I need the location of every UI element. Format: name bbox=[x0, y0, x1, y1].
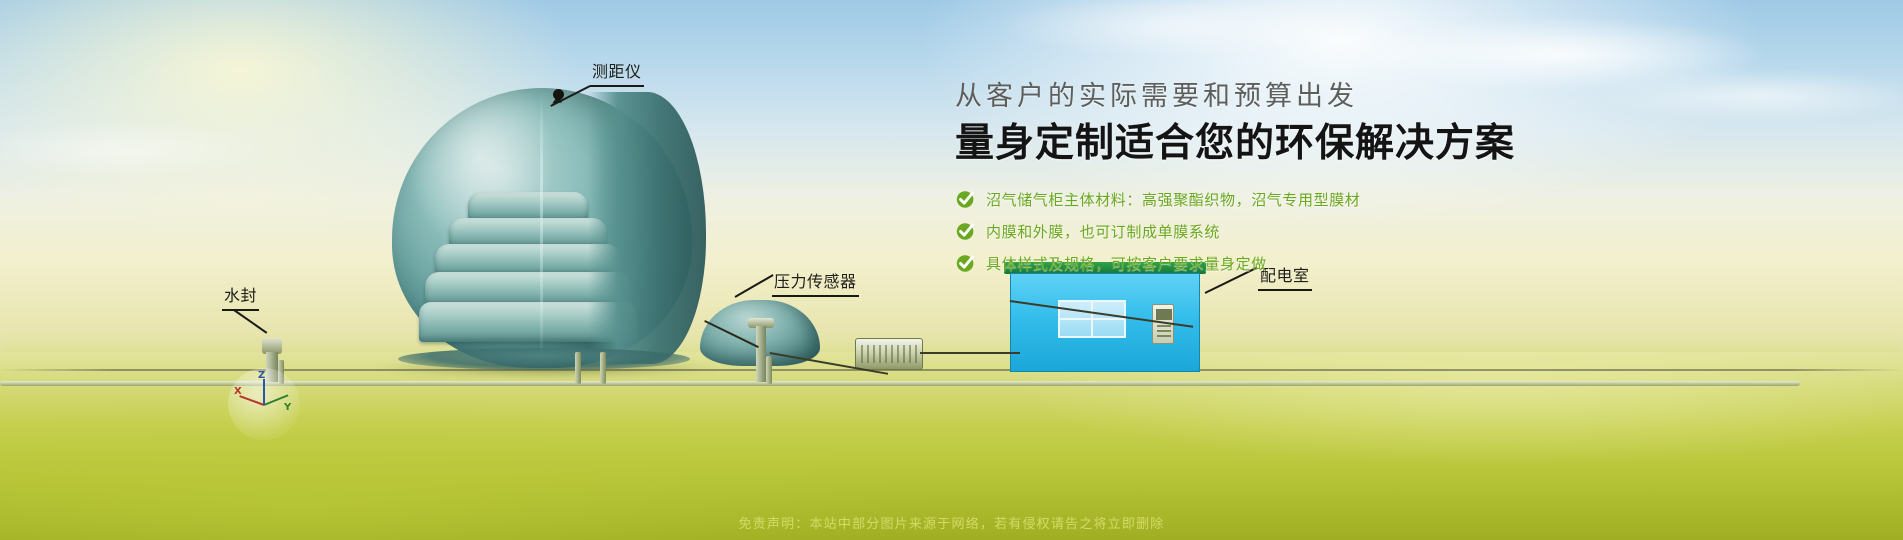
building-window bbox=[1058, 300, 1126, 338]
clouds-decoration bbox=[0, 0, 1903, 240]
dome-outer-shell-right bbox=[588, 92, 706, 364]
axis-orientation-gizmo: Y X Z bbox=[228, 368, 300, 440]
promo-bullet-text: 沼气储气柜主体材料：高强聚酯织物，沼气专用型膜材 bbox=[986, 189, 1360, 210]
dome-seam bbox=[540, 92, 543, 362]
check-circle-icon bbox=[955, 252, 977, 274]
dome-base-ring bbox=[398, 348, 690, 370]
gizmo-axis-x bbox=[239, 395, 264, 406]
gizmo-label-x: X bbox=[234, 386, 242, 397]
check-circle-icon bbox=[955, 188, 977, 210]
promo-bullet-list: 沼气储气柜主体材料：高强聚酯织物，沼气专用型膜材 内膜和外膜，也可订制成单膜系统 bbox=[955, 183, 1515, 279]
pipe-riser-dome-left bbox=[575, 352, 581, 384]
callout-rangefinder: 测距仪 bbox=[590, 58, 644, 87]
promo-subtitle: 从客户的实际需要和预算出发 bbox=[955, 80, 1515, 114]
cable-blower-to-house bbox=[920, 352, 1020, 354]
banner-stage: Y X Z 测距仪 水封 压力传感器 配电室 从客户的实际需要和预算出发 量身定… bbox=[0, 0, 1903, 540]
pressure-sensor-valve-stack bbox=[748, 318, 774, 382]
promo-bullet-item: 内膜和外膜，也可订制成单膜系统 bbox=[955, 215, 1515, 247]
promo-bullet-text: 具体样式及规格，可按客户要求量身定做 bbox=[986, 253, 1267, 274]
gizmo-axis-z bbox=[263, 379, 265, 405]
callout-water-seal-label: 水封 bbox=[222, 282, 259, 311]
gizmo-label-z: Z bbox=[258, 370, 265, 381]
callout-pressure-sensor: 压力传感器 bbox=[772, 268, 859, 297]
pipe-riser-dome-right bbox=[600, 352, 606, 384]
blower-unit bbox=[855, 338, 923, 370]
promo-headline: 量身定制适合您的环保解决方案 bbox=[955, 120, 1515, 168]
promo-bullet-text: 内膜和外膜，也可订制成单膜系统 bbox=[986, 221, 1220, 242]
callout-rangefinder-label: 测距仪 bbox=[590, 58, 644, 87]
gizmo-label-y: Y bbox=[284, 402, 291, 413]
check-circle-icon bbox=[955, 220, 977, 242]
horizon-line bbox=[0, 369, 1903, 371]
rangefinder-device bbox=[553, 89, 564, 100]
promo-copy-block: 从客户的实际需要和预算出发 量身定制适合您的环保解决方案 沼气储气柜主体材料：高… bbox=[955, 80, 1515, 279]
promo-bullet-item: 沼气储气柜主体材料：高强聚酯织物，沼气专用型膜材 bbox=[955, 183, 1515, 215]
callout-water-seal: 水封 bbox=[222, 282, 259, 311]
disclaimer-text: 免责声明：本站中部分图片来源于网络，若有侵权请告之将立即删除 bbox=[0, 513, 1903, 532]
callout-pressure-sensor-label: 压力传感器 bbox=[772, 268, 859, 297]
promo-bullet-item: 具体样式及规格，可按客户要求量身定做 bbox=[955, 247, 1515, 279]
